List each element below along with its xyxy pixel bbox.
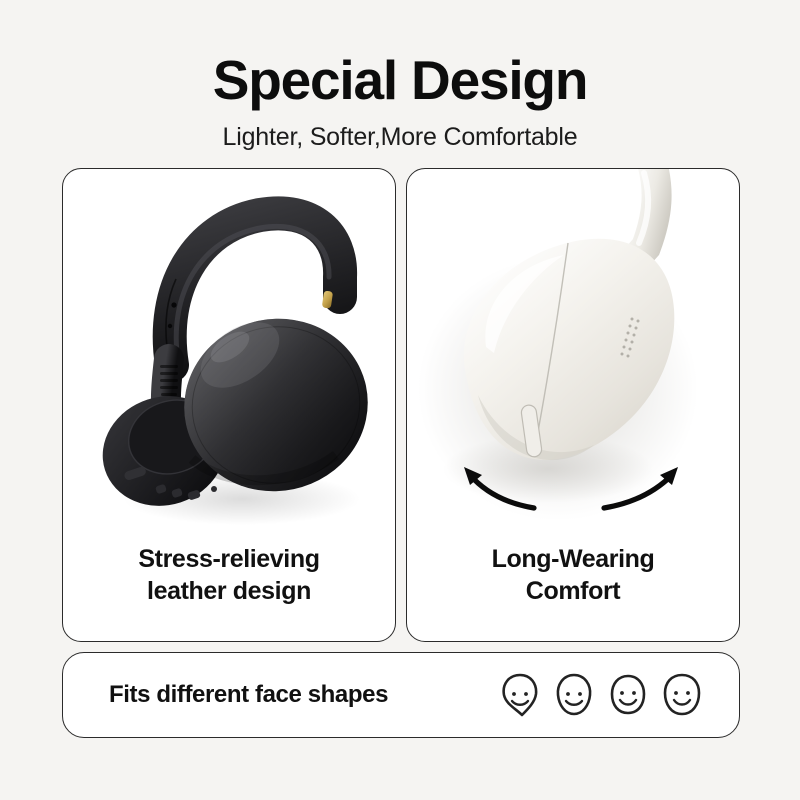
card-caption: Stress-relieving leather design xyxy=(63,543,395,607)
card-caption-line-1: Stress-relieving xyxy=(63,543,395,575)
feature-card-stress-relieving[interactable]: Stress-relieving leather design xyxy=(62,168,396,642)
fits-face-shapes-label: Fits different face shapes xyxy=(109,681,388,709)
feature-card-long-wearing-comfort[interactable]: Long-Wearing Comfort xyxy=(406,168,740,642)
face-icon-pointed-chin xyxy=(499,671,541,719)
card-caption: Long-Wearing Comfort xyxy=(407,543,739,607)
card-caption-line-2: Comfort xyxy=(407,575,739,607)
face-icon-round xyxy=(607,671,649,719)
card-caption-line-2: leather design xyxy=(63,575,395,607)
fits-face-shapes-bar[interactable]: Fits different face shapes xyxy=(62,652,740,738)
page-subtitle: Lighter, Softer,More Comfortable xyxy=(0,110,800,152)
header: Special Design Lighter, Softer,More Comf… xyxy=(0,0,800,152)
face-icon-square xyxy=(661,671,703,719)
face-icon-oval xyxy=(553,671,595,719)
feature-cards-row: Stress-relieving leather design xyxy=(62,168,740,642)
white-headphone-earcup-photo xyxy=(407,169,739,541)
black-headphones-photo xyxy=(63,169,395,541)
page-title: Special Design xyxy=(0,0,800,110)
card-caption-line-1: Long-Wearing xyxy=(407,543,739,575)
face-shape-icons xyxy=(499,671,703,719)
